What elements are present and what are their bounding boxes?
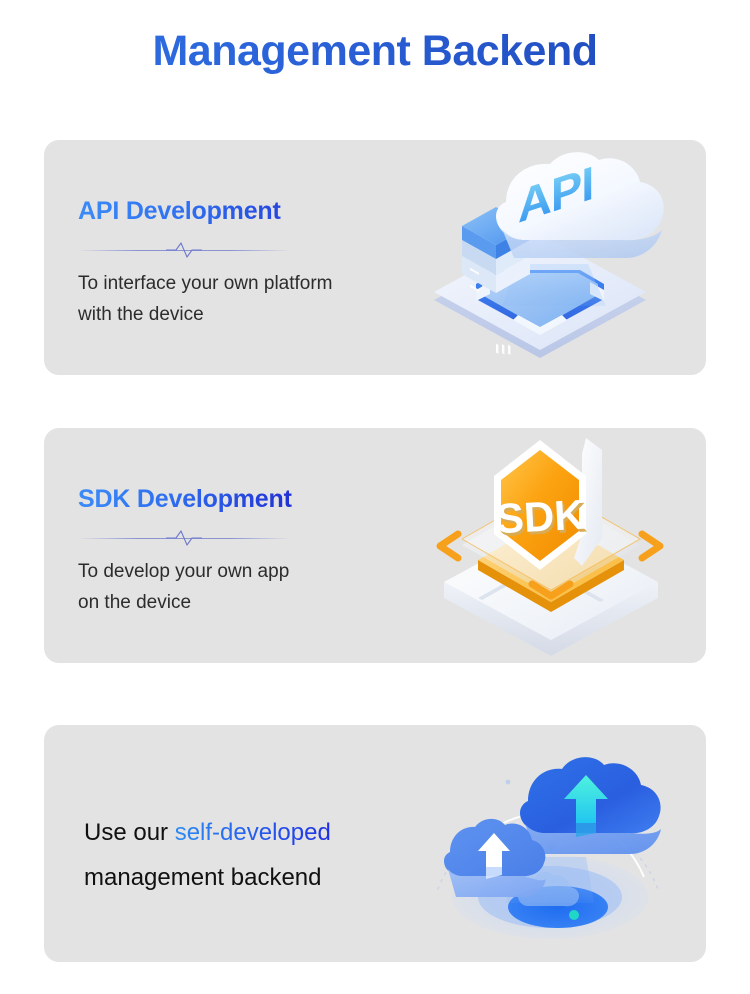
page-root: Management Backend API Development To in… bbox=[0, 0, 750, 994]
card-sdk-development[interactable]: SDK Development To develop your own app … bbox=[44, 428, 706, 663]
card-api-body: To interface your own platform with the … bbox=[78, 268, 333, 330]
sdk-hexagon-badge-illustration: SDK SDK bbox=[406, 430, 696, 663]
card-api-body-line1: To interface your own platform bbox=[78, 268, 333, 299]
card-backend-statement-line1: Use our self-developed bbox=[84, 810, 331, 855]
statement-prefix: Use our bbox=[84, 819, 175, 846]
card-backend-statement-line2: management backend bbox=[84, 855, 331, 900]
zigzag-peak-divider-icon bbox=[78, 240, 290, 260]
card-api-body-line2: with the device bbox=[78, 299, 333, 330]
zigzag-peak-divider-icon bbox=[78, 528, 290, 548]
divider-peak bbox=[166, 528, 202, 548]
card-backend-statement: Use our self-developed management backen… bbox=[84, 810, 331, 900]
card-sdk-body-line2: on the device bbox=[78, 587, 292, 618]
cloud-upload-portal-illustration bbox=[408, 737, 688, 952]
svg-text:SDK: SDK bbox=[495, 491, 586, 543]
page-title: Management Backend bbox=[0, 20, 750, 82]
card-sdk-heading: SDK Development bbox=[78, 483, 292, 515]
api-cloud-server-illustration: API bbox=[410, 144, 690, 372]
card-api-development[interactable]: API Development To interface your own pl… bbox=[44, 140, 706, 375]
card-api-heading: API Development bbox=[78, 195, 333, 227]
card-api-text-block: API Development To interface your own pl… bbox=[78, 195, 333, 330]
statement-highlight: self-developed bbox=[175, 819, 331, 846]
card-sdk-text-block: SDK Development To develop your own app … bbox=[78, 483, 292, 618]
card-sdk-body: To develop your own app on the device bbox=[78, 556, 292, 618]
card-sdk-body-line1: To develop your own app bbox=[78, 556, 292, 587]
divider-peak bbox=[166, 240, 202, 260]
card-self-developed-backend[interactable]: Use our self-developed management backen… bbox=[44, 725, 706, 962]
